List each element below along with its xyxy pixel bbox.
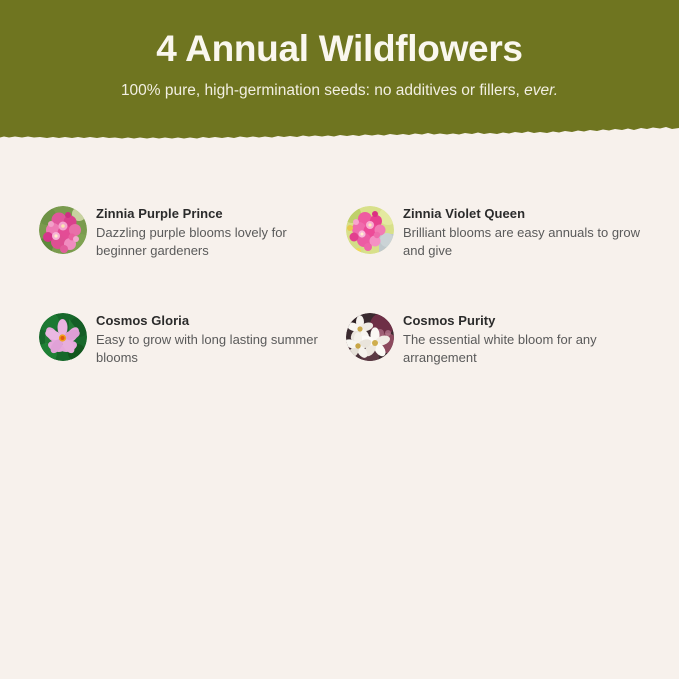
list-item-description: Dazzling purple blooms lovely for beginn…	[96, 224, 339, 260]
torn-paper-edge-divider	[0, 117, 679, 141]
wildflower-list: Zinnia Purple Prince Dazzling purple blo…	[39, 196, 640, 410]
zinnia-violet-queen-thumbnail-icon	[346, 206, 394, 254]
list-item-text: Cosmos Gloria Easy to grow with long las…	[96, 303, 339, 367]
cosmos-gloria-thumbnail-icon	[39, 313, 87, 361]
cosmos-purity-thumbnail-icon	[346, 313, 394, 361]
list-item[interactable]: Zinnia Purple Prince Dazzling purple blo…	[39, 196, 339, 303]
list-item-title: Zinnia Violet Queen	[403, 206, 646, 222]
subtitle-emphasis-text: ever.	[524, 82, 558, 99]
list-item-description: Easy to grow with long lasting summer bl…	[96, 331, 339, 367]
list-item-title: Zinnia Purple Prince	[96, 206, 339, 222]
list-item[interactable]: Zinnia Violet Queen Brilliant blooms are…	[346, 196, 646, 303]
list-item[interactable]: Cosmos Gloria Easy to grow with long las…	[39, 303, 339, 410]
list-item-text: Zinnia Purple Prince Dazzling purple blo…	[96, 196, 339, 260]
list-item-description: The essential white bloom for any arrang…	[403, 331, 646, 367]
list-item-title: Cosmos Purity	[403, 313, 646, 329]
list-item-description: Brilliant blooms are easy annuals to gro…	[403, 224, 646, 260]
zinnia-purple-prince-thumbnail-icon	[39, 206, 87, 254]
banner-content: 4 Annual Wildflowers 100% pure, high-ger…	[0, 0, 679, 126]
list-item[interactable]: Cosmos Purity The essential white bloom …	[346, 303, 646, 410]
subtitle-main-text: 100% pure, high-germination seeds: no ad…	[121, 82, 524, 99]
page-title: 4 Annual Wildflowers	[156, 30, 522, 67]
list-item-text: Zinnia Violet Queen Brilliant blooms are…	[403, 196, 646, 260]
list-item-text: Cosmos Purity The essential white bloom …	[403, 303, 646, 367]
list-item-title: Cosmos Gloria	[96, 313, 339, 329]
header-banner: 4 Annual Wildflowers 100% pure, high-ger…	[0, 0, 679, 141]
page-subtitle: 100% pure, high-germination seeds: no ad…	[121, 83, 558, 99]
